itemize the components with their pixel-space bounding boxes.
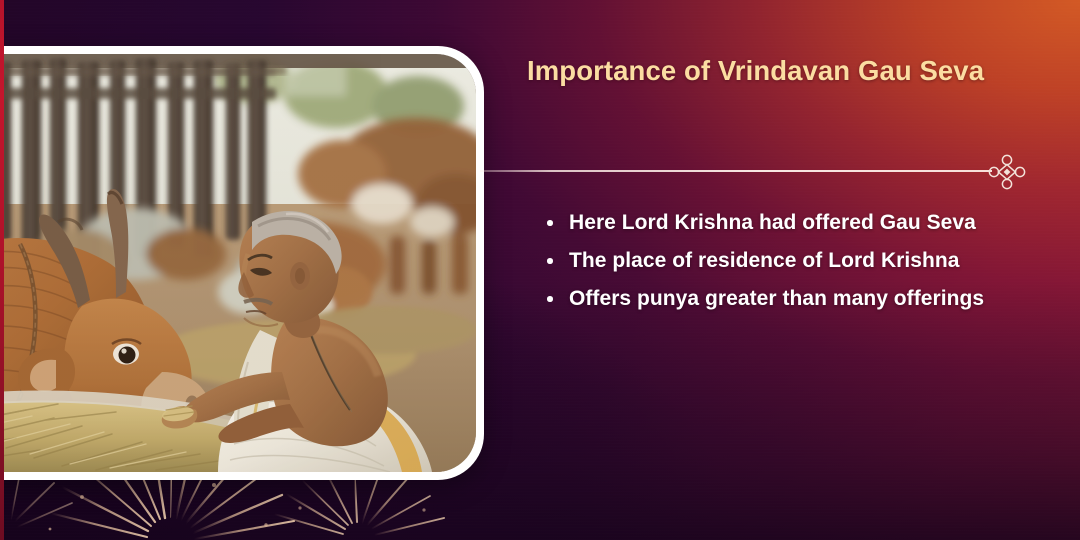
list-item: Here Lord Krishna had offered Gau Seva [535,205,1045,240]
slide-canvas: Importance of Vrindavan Gau Seva [0,0,1080,540]
left-accent-stripe [0,0,4,540]
divider-line [480,170,992,172]
title-divider [480,170,1051,172]
bullet-list: Here Lord Krishna had offered Gau Seva T… [535,205,1045,319]
slide-title: Importance of Vrindavan Gau Seva [527,53,1009,89]
goshala-photo-illustration [0,54,476,472]
list-item: The place of residence of Lord Krishna [535,243,1045,278]
content-panel: Importance of Vrindavan Gau Seva [505,0,1080,540]
list-item: Offers punya greater than many offerings [535,281,1045,316]
four-loop-diamond-ornament-icon [985,154,1029,190]
goshala-photo [0,54,476,472]
photo-card [0,46,484,480]
